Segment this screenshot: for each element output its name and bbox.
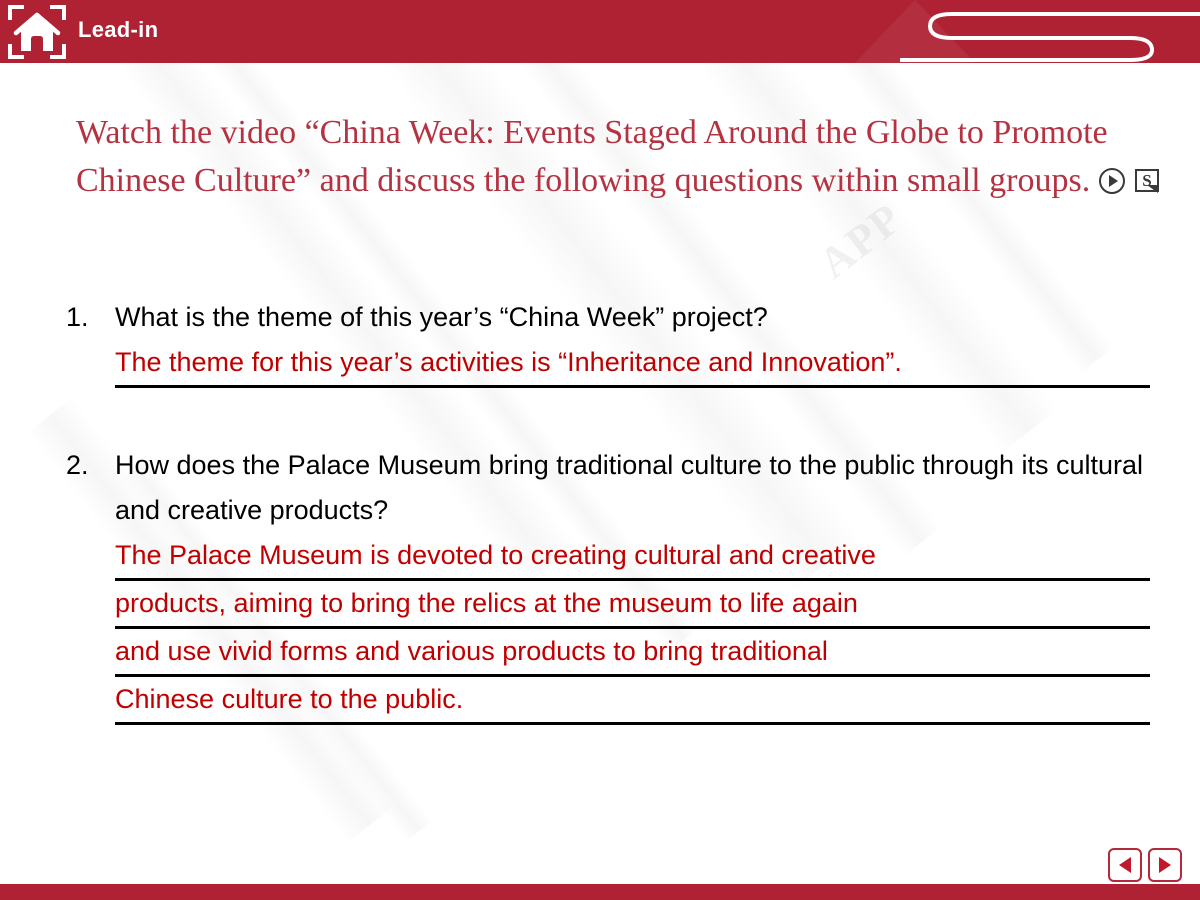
prev-slide-button[interactable] [1108,848,1142,882]
answer-line: products, aiming to bring the relics at … [115,581,1150,629]
play-circle-icon[interactable] [1098,161,1126,209]
triangle-right-icon [1159,857,1171,873]
question-number: 2. [66,443,112,487]
header-bar: Lead-in [0,0,1200,63]
lead-instruction: Watch the video “China Week: Events Stag… [76,109,1161,209]
lead-instruction-text: Watch the video “China Week: Events Stag… [76,114,1108,199]
answer-line: Chinese culture to the public. [115,677,1150,725]
snake-line-decoration [900,0,1200,63]
home-icon[interactable] [8,4,66,60]
footer-bar [0,884,1200,900]
question-prompt: How does the Palace Museum bring traditi… [115,443,1166,533]
next-slide-button[interactable] [1148,848,1182,882]
question-item: 2. How does the Palace Museum bring trad… [66,443,1166,725]
triangle-left-icon [1119,857,1131,873]
answer-line: The theme for this year’s activities is … [115,340,1150,388]
slide-navigation [1108,848,1182,882]
question-prompt: What is the theme of this year’s “China … [115,295,1166,340]
question-number: 1. [66,295,112,339]
questions-list: 1. What is the theme of this year’s “Chi… [66,295,1166,725]
answer-line: and use vivid forms and various products… [115,629,1150,677]
page-title: Lead-in [78,17,158,43]
script-s-icon[interactable]: S [1134,161,1160,209]
answer-line: The Palace Museum is devoted to creating… [115,533,1150,581]
slide-content: Watch the video “China Week: Events Stag… [0,63,1200,884]
question-item: 1. What is the theme of this year’s “Chi… [66,295,1166,413]
